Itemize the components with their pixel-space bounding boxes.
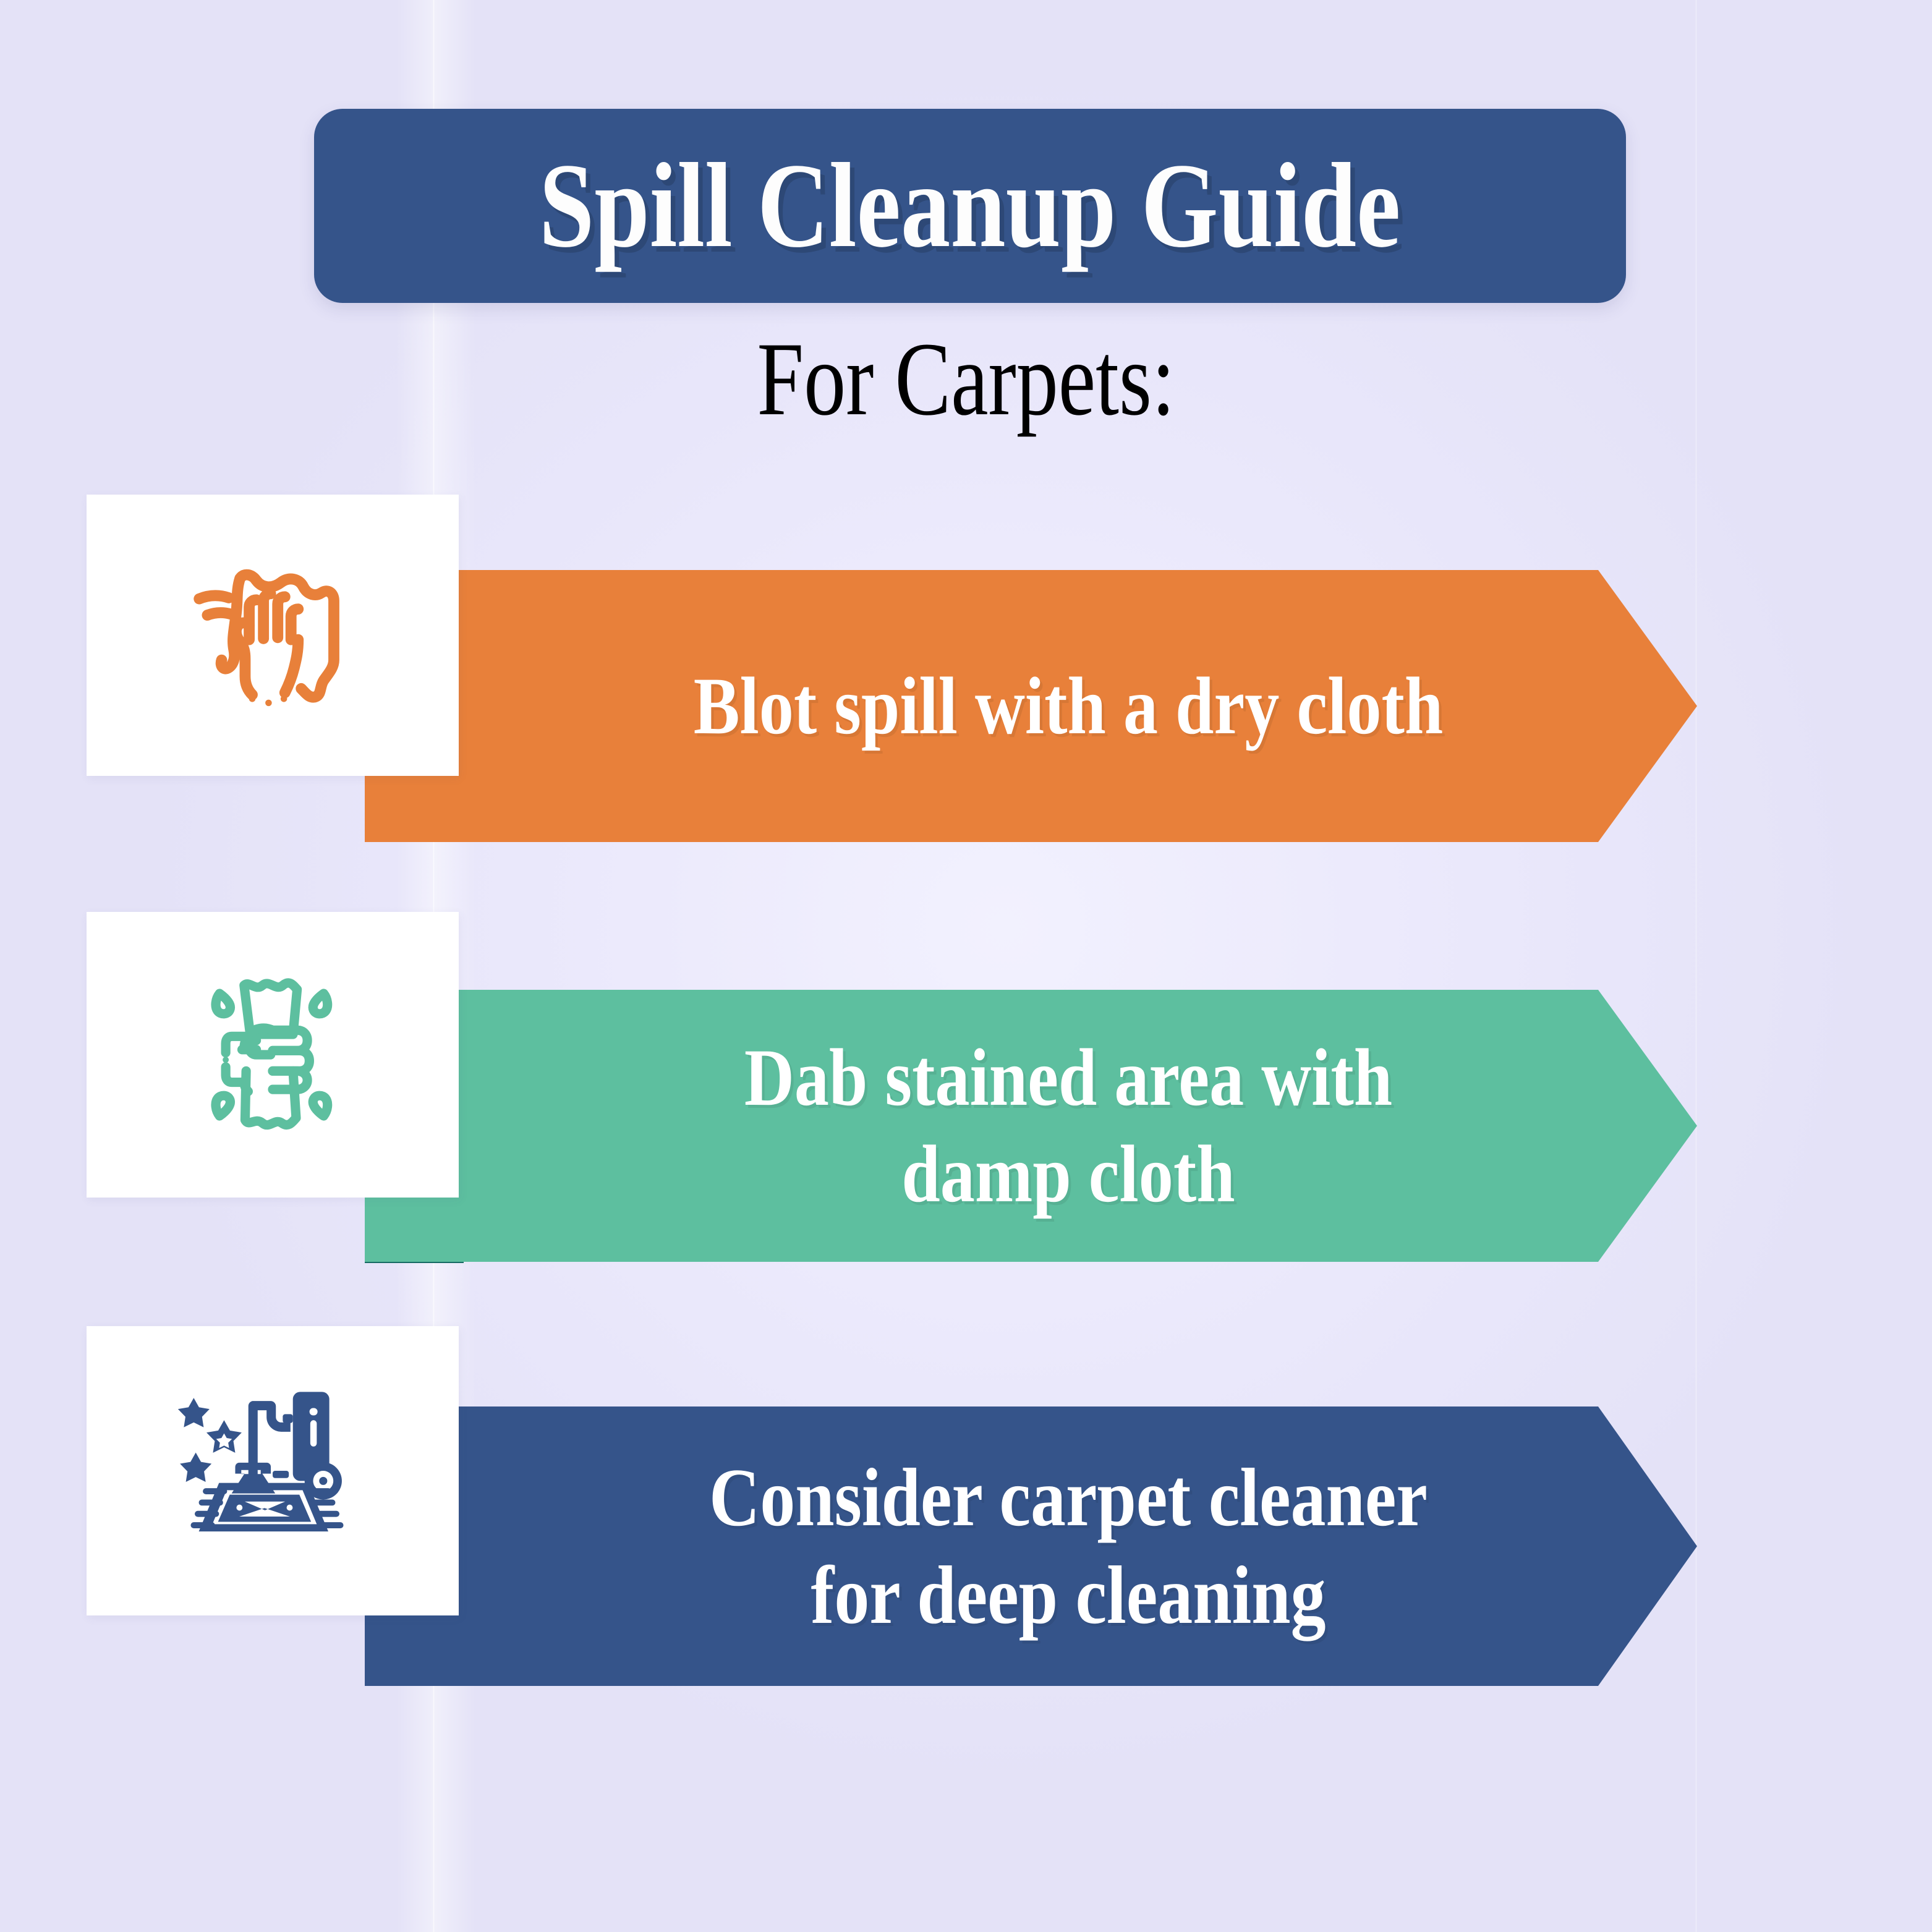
step-banner-2[interactable]: Dab stained area with damp cloth (365, 990, 1697, 1262)
title-plate: Spill Cleanup Guide (314, 109, 1626, 303)
step-banner-3[interactable]: Consider carpet cleaner for deep cleanin… (365, 1406, 1697, 1686)
infographic-canvas: Spill Cleanup Guide For Carpets: Blot sp… (0, 0, 1932, 1932)
page-subtitle: For Carpets: (0, 326, 1932, 432)
step-label-1: Blot spill with a dry cloth (658, 658, 1478, 754)
step-icon-card-3 (87, 1326, 459, 1615)
hand-wiping-cloth-icon (171, 534, 375, 738)
step-banner-1[interactable]: Blot spill with a dry cloth (365, 570, 1697, 842)
step-icon-card-2 (87, 912, 459, 1198)
page-title: Spill Cleanup Guide (539, 145, 1400, 266)
step-label-3: Consider carpet cleaner for deep cleanin… (658, 1449, 1478, 1644)
step-icon-card-1 (87, 495, 459, 776)
step-label-2: Dab stained area with damp cloth (658, 1029, 1478, 1222)
page-subtitle-text: For Carpets: (757, 326, 1175, 432)
background-seam-right (1695, 0, 1697, 1932)
hand-wringing-damp-cloth-icon (171, 953, 375, 1157)
carpet-cleaner-machine-icon (161, 1366, 384, 1576)
